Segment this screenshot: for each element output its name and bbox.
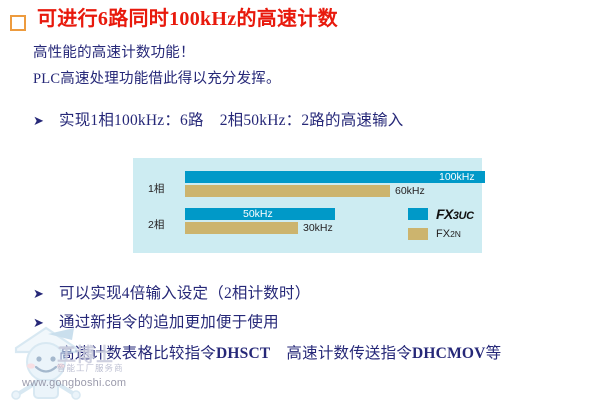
chart-bar-label-fx2n-1phase: 60kHz <box>395 185 425 197</box>
bullet-item-1-text-a: 实现1相100kHz：6路 <box>59 108 204 130</box>
watermark-url: www.gongboshi.com <box>22 377 126 389</box>
legend-label-fx3uc-sub: 3UC <box>453 210 474 222</box>
legend-label-fx2n-sub: 2N <box>450 229 461 239</box>
legend-label-fx2n-main: FX <box>436 228 450 240</box>
chart-category-label-1: 1相 <box>148 181 186 196</box>
instruction-summary-line: 高速计数表格比较指令DHSCT高速计数传送指令DHCMOV等 <box>59 341 501 363</box>
chart-bar-label-fx2n-2phase: 30kHz <box>303 222 333 234</box>
bullet-item-3-text: 通过新指令的追加更加便于使用 <box>59 310 279 332</box>
instruction-code-dhsct: DHSCT <box>216 345 270 362</box>
bullet-item-1-text-b: 2相50kHz：2路的高速输入 <box>220 108 404 130</box>
arrow-right-icon: ➤ <box>33 316 59 331</box>
page-title: 可进行6路同时100kHz的高速计数 <box>10 8 338 31</box>
chart-legend: FX3UC FX2N <box>408 206 474 246</box>
instruction-code-dhcmov: DHCMOV <box>412 345 486 362</box>
bullet-item-high-speed-input: ➤ 实现1相100kHz：6路 2相50kHz：2路的高速输入 <box>33 108 404 130</box>
watermark-tagline: 智能工厂服务商 <box>57 362 124 374</box>
legend-label-fx3uc-main: FX <box>436 206 453 222</box>
legend-label-fx2n: FX2N <box>436 228 461 240</box>
legend-item-fx2n: FX2N <box>408 226 474 242</box>
legend-swatch-fx2n <box>408 228 428 240</box>
chart-plot-area: 1相 2相 100kHz 60kHz 50kHz 30kHz FX3UC FX2… <box>133 158 482 253</box>
bullet-item-2-text: 可以实现4倍输入设定（2相计数时） <box>59 281 310 303</box>
chart-bar-label-fx3uc-1phase: 100kHz <box>439 171 475 183</box>
instruction-suffix: 等 <box>486 345 502 362</box>
legend-item-fx3uc: FX3UC <box>408 206 474 222</box>
bullet-item-quadruple-input: ➤ 可以实现4倍输入设定（2相计数时） <box>33 281 310 303</box>
legend-label-fx3uc: FX3UC <box>436 206 474 222</box>
arrow-right-icon: ➤ <box>33 114 59 129</box>
chart-bar-fx2n-1phase <box>185 185 390 197</box>
square-outline-icon <box>10 15 26 31</box>
body-line-1: 高性能的高速计数功能！ <box>33 41 195 62</box>
chart-category-label-2: 2相 <box>148 217 186 232</box>
chart-bar-fx2n-2phase <box>185 222 298 234</box>
chart-bar-label-fx3uc-2phase: 50kHz <box>243 208 273 220</box>
arrow-right-icon: ➤ <box>33 287 59 302</box>
bullet-item-new-instructions: ➤ 通过新指令的追加更加便于使用 <box>33 310 279 332</box>
body-line-2: PLC高速处理功能借此得以充分发挥。 <box>33 67 281 88</box>
instruction-label-2: 高速计数传送指令 <box>286 345 412 362</box>
legend-swatch-fx3uc <box>408 208 428 220</box>
frequency-comparison-chart: 1相 2相 100kHz 60kHz 50kHz 30kHz FX3UC FX2… <box>133 158 482 253</box>
page-title-text: 可进行6路同时100kHz的高速计数 <box>37 8 338 31</box>
